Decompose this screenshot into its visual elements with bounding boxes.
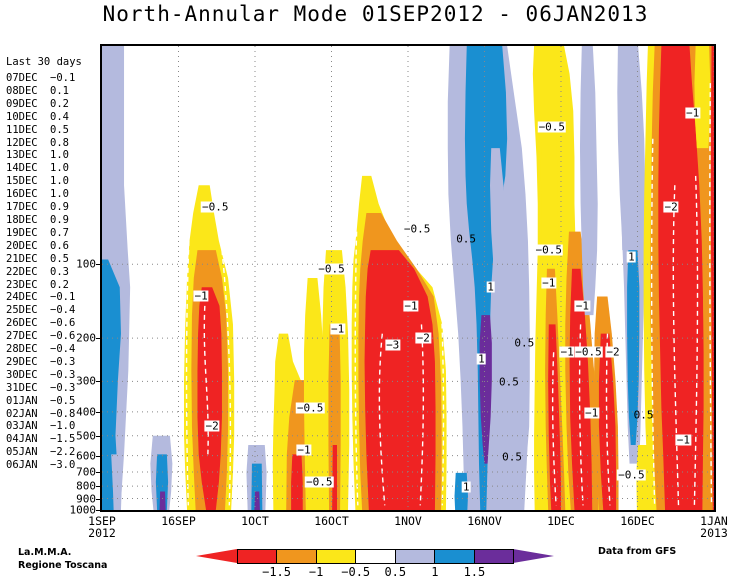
colorbar-tick-label: 1 (431, 565, 438, 579)
footer-data-source: Data from GFS (598, 546, 676, 557)
y-axis-tick-label: 100 (76, 258, 96, 271)
x-axis-tick-label: 16DEC (620, 515, 655, 527)
y-axis-tick-label: 500 (76, 429, 96, 442)
y-axis-tick-label: 800 (76, 480, 96, 493)
contour-label: 0.5 (513, 337, 535, 348)
contour-band (160, 491, 166, 510)
contour-label: −2 (605, 347, 620, 358)
y-axis-tick-label: 600 (76, 449, 96, 462)
y-axis-tick-label: 200 (76, 332, 96, 345)
contour-label: −0.5 (305, 477, 334, 488)
colorbar-segment (277, 550, 316, 563)
contour-band (254, 491, 260, 510)
x-axis-tick-year: 2013 (700, 527, 728, 539)
footer-org-region: Regione Toscana (18, 559, 107, 572)
contour-label: 0.5 (633, 409, 655, 420)
plot-area: −0.5−1−2−0.5−1−0.5−0.5−1−0.5−1−3−20.5110… (100, 44, 716, 512)
x-axis-tick-label: 16NOV (467, 515, 502, 527)
contour-label: −0.5 (317, 263, 346, 274)
colorbar-segment (317, 550, 356, 563)
colorbar-tick-label: −1 (309, 565, 323, 579)
y-axis-tick-label: 700 (76, 465, 96, 478)
contour-band (620, 46, 629, 250)
contour-label: −0.5 (617, 470, 646, 481)
colorbar-tick-label: −1.5 (262, 565, 291, 579)
x-axis-tick-date: 16DEC (620, 515, 655, 527)
colorbar-segment (435, 550, 474, 563)
x-axis-tick-label: 1JAN2013 (700, 515, 728, 539)
contour-label: 1 (477, 354, 486, 365)
x-axis-tick-label: 1DEC (547, 515, 575, 527)
colorbar-segment (238, 550, 277, 563)
contour-label: −3 (385, 340, 400, 351)
colorbar: −1.5−1−0.50.511.5 (196, 549, 554, 579)
x-axis-tick-date: 16OCT (314, 515, 349, 527)
contour-label: −1 (296, 444, 311, 455)
footer-org-name: La.M.M.A. (18, 546, 107, 559)
x-axis-tick-date: 1OCT (241, 515, 269, 527)
contour-label: 1 (462, 481, 471, 492)
x-axis-tick-label: 16SEP (161, 515, 196, 527)
contour-label: −0.5 (574, 347, 603, 358)
contour-label: −1 (575, 300, 590, 311)
contour-label: −1 (194, 290, 209, 301)
x-axis-tick-date: 16SEP (161, 515, 196, 527)
contour-label: −1 (403, 300, 418, 311)
x-axis-tick-year: 2012 (88, 527, 116, 539)
footer-left: La.M.M.A. Regione Toscana (18, 546, 107, 572)
page-title: North-Annular Mode 01SEP2012 - 06JAN2013 (0, 2, 751, 26)
contour-label: −2 (416, 333, 431, 344)
x-axis-tick-date: 1DEC (547, 515, 575, 527)
colorbar-tick-label: −0.5 (341, 565, 370, 579)
colorbar-tick-labels: −1.5−1−0.50.511.5 (196, 565, 554, 579)
colorbar-over-arrow (513, 549, 554, 563)
x-axis-tick-label: 1NOV (394, 515, 422, 527)
colorbar-tick-label: 0.5 (384, 565, 406, 579)
contour-label: −0.5 (403, 224, 432, 235)
contour-label: −1 (330, 324, 345, 335)
colorbar-segments (237, 549, 514, 564)
contour-label: −1 (559, 347, 574, 358)
x-axis-tick-date: 16NOV (467, 515, 502, 527)
y-axis-tick-label: 300 (76, 375, 96, 388)
contour-label: 1 (627, 252, 636, 263)
x-axis-tick-label: 1SEP2012 (88, 515, 116, 539)
contour-label: −2 (205, 421, 220, 432)
y-axis: 1002003004005006007008009001000 (36, 44, 96, 512)
colorbar-tick-label: 1.5 (464, 565, 486, 579)
contour-label: −0.5 (296, 402, 325, 413)
contour-label: 0.5 (455, 234, 477, 245)
y-axis-tick-label: 400 (76, 405, 96, 418)
colorbar-segment (396, 550, 435, 563)
contour-label: −2 (664, 201, 679, 212)
contour-label: −0.5 (535, 245, 564, 256)
contour-label: 0.5 (501, 451, 523, 462)
contour-label: −1 (541, 277, 556, 288)
contour-label: −1 (676, 435, 691, 446)
contour-label: 1 (486, 282, 495, 293)
x-axis-tick-date: 1NOV (394, 515, 422, 527)
x-axis-tick-label: 16OCT (314, 515, 349, 527)
contour-label: −1 (584, 407, 599, 418)
colorbar-segment (475, 550, 513, 563)
x-axis: 1SEP201216SEP1OCT16OCT1NOV16NOV1DEC16DEC… (0, 515, 751, 545)
colorbar-segment (356, 550, 395, 563)
contour-label: −1 (685, 108, 700, 119)
x-axis-tick-label: 1OCT (241, 515, 269, 527)
colorbar-under-arrow (196, 549, 237, 563)
contour-label: −0.5 (201, 201, 230, 212)
contour-band (694, 46, 710, 148)
contour-plot-canvas (102, 46, 714, 510)
contour-band (291, 454, 303, 510)
contour-band (496, 417, 507, 510)
contour-label: −0.5 (538, 122, 567, 133)
contour-band (580, 46, 598, 315)
contour-label: 0.5 (498, 377, 520, 388)
